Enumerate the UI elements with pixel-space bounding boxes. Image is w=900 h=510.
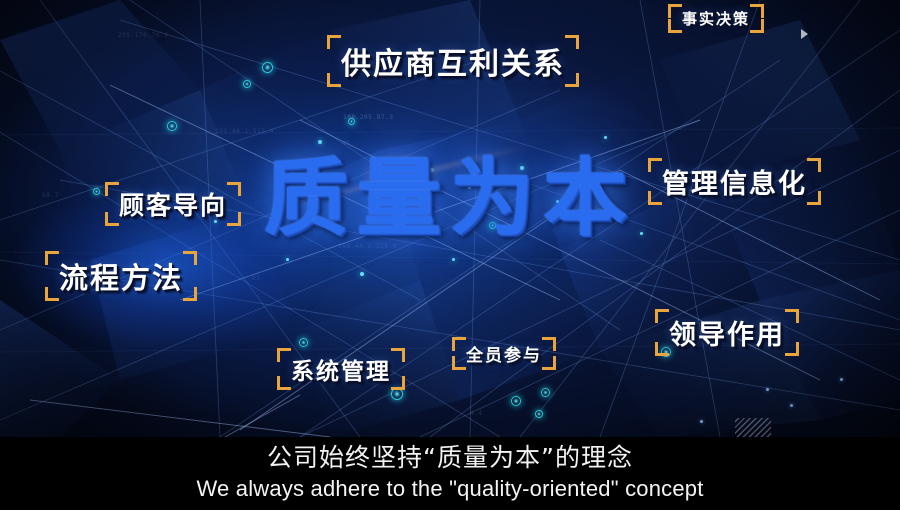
- bracket-corner-icon: [785, 342, 799, 356]
- bracket-corner-icon: [542, 337, 556, 351]
- subtitle-chinese: 公司始终坚持“质量为本”的理念: [0, 443, 900, 473]
- keyword-label-full-participation[interactable]: 全员参与: [452, 337, 556, 370]
- bracket-corner-icon: [565, 73, 579, 87]
- keyword-label-text: 管理信息化: [662, 169, 807, 200]
- bracket-corner-icon: [105, 212, 119, 226]
- bracket-corner-icon: [45, 287, 59, 301]
- subtitle-bar: 公司始终坚持“质量为本”的理念 We always adhere to the …: [0, 437, 900, 510]
- subtitle-english: We always adhere to the "quality-oriente…: [0, 475, 900, 503]
- bracket-corner-icon: [327, 35, 341, 49]
- bracket-corner-icon: [648, 158, 662, 172]
- keyword-label-text: 顾客导向: [119, 191, 227, 220]
- bracket-corner-icon: [452, 356, 466, 370]
- bracket-corner-icon: [227, 212, 241, 226]
- bracket-corner-icon: [785, 309, 799, 323]
- bracket-corner-icon: [277, 348, 291, 362]
- bracket-corner-icon: [565, 35, 579, 49]
- bracket-corner-icon: [807, 158, 821, 172]
- keyword-label-text: 领导作用: [669, 320, 785, 351]
- bracket-corner-icon: [807, 191, 821, 205]
- bracket-corner-icon: [668, 19, 682, 33]
- keyword-label-management-informatization[interactable]: 管理信息化: [648, 158, 821, 205]
- bracket-corner-icon: [668, 4, 682, 18]
- bracket-corner-icon: [542, 356, 556, 370]
- bracket-corner-icon: [648, 191, 662, 205]
- keyword-label-text: 事实决策: [682, 10, 750, 28]
- bracket-corner-icon: [183, 251, 197, 265]
- play-triangle-icon[interactable]: [801, 29, 808, 39]
- bracket-corner-icon: [105, 182, 119, 196]
- bracket-corner-icon: [452, 337, 466, 351]
- keyword-label-supplier-relations[interactable]: 供应商互利关系: [327, 35, 579, 87]
- video-canvas: 205.170.76.2 192.44.1.115.4 108.205.87.3…: [0, 0, 900, 437]
- keyword-label-process-approach[interactable]: 流程方法: [45, 251, 197, 301]
- bracket-corner-icon: [183, 287, 197, 301]
- bracket-corner-icon: [391, 348, 405, 362]
- bracket-corner-icon: [327, 73, 341, 87]
- keyword-label-text: 系统管理: [291, 359, 391, 385]
- keyword-label-customer-orientation[interactable]: 顾客导向: [105, 182, 241, 226]
- bracket-corner-icon: [655, 342, 669, 356]
- bracket-corner-icon: [750, 19, 764, 33]
- keyword-label-system-management[interactable]: 系统管理: [277, 348, 405, 390]
- video-player-frame: 205.170.76.2 192.44.1.115.4 108.205.87.3…: [0, 0, 900, 510]
- bracket-corner-icon: [277, 376, 291, 390]
- keyword-label-leadership[interactable]: 领导作用: [655, 309, 799, 356]
- bracket-corner-icon: [45, 251, 59, 265]
- keyword-label-text: 全员参与: [466, 346, 542, 366]
- bracket-corner-icon: [655, 309, 669, 323]
- keyword-label-text: 流程方法: [59, 261, 183, 295]
- keyword-label-fact-based-decision[interactable]: 事实决策: [668, 4, 764, 33]
- keyword-label-text: 供应商互利关系: [341, 47, 565, 82]
- bracket-corner-icon: [227, 182, 241, 196]
- bracket-corner-icon: [391, 376, 405, 390]
- bracket-corner-icon: [750, 4, 764, 18]
